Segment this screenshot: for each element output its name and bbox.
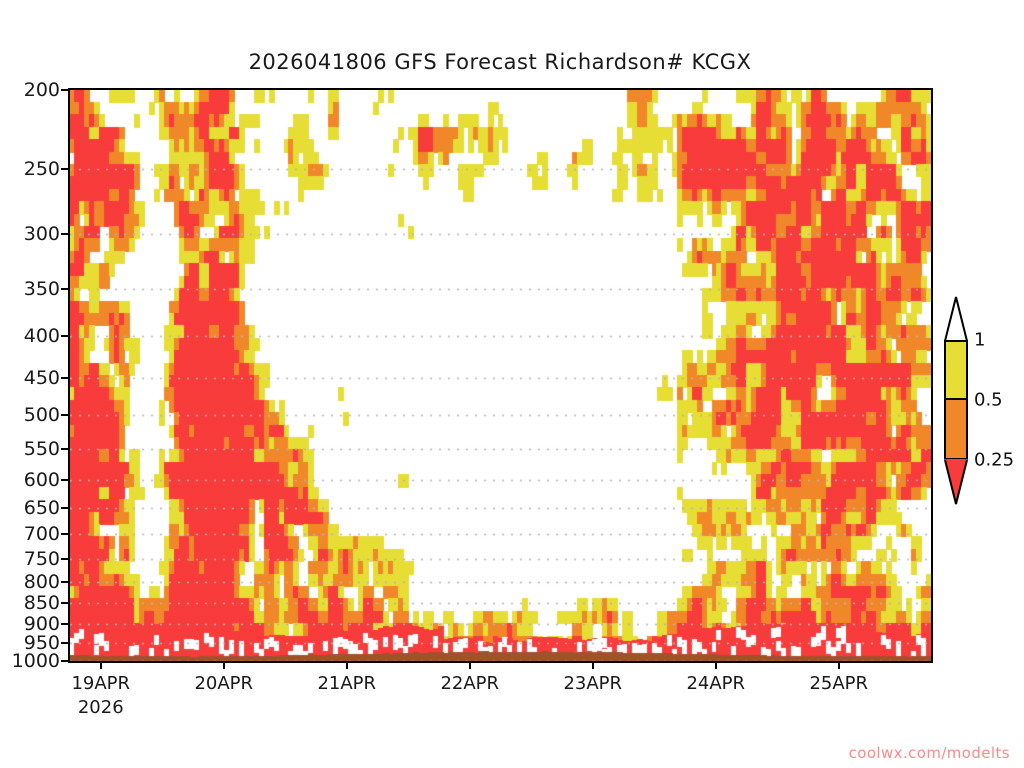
x-axis-year-label: 2026 <box>78 697 124 718</box>
y-tick-label: 750 <box>2 548 60 570</box>
y-tick-label: 250 <box>2 158 60 180</box>
colorbar-tick-label: 0.25 <box>974 450 1014 471</box>
y-tick-label: 550 <box>2 438 60 460</box>
y-tick-label: 800 <box>2 571 60 593</box>
colorbar-segment <box>946 342 966 400</box>
colorbar-bottom-arrow <box>944 459 968 505</box>
y-tick-label: 650 <box>2 497 60 519</box>
colorbar-tick-label: 0.5 <box>974 390 1003 411</box>
colorbar-tick-label: 1 <box>974 330 985 351</box>
x-tick-mark <box>469 661 471 669</box>
y-tick-label: 700 <box>2 523 60 545</box>
colorbar-segment <box>946 400 966 458</box>
footer-credit: coolwx.com/modelts <box>849 744 1010 762</box>
y-axis-labels: 2002503003504004505005506006507007508008… <box>0 0 60 768</box>
x-tick-mark <box>100 661 102 669</box>
y-tick-label: 450 <box>2 367 60 389</box>
y-tick-label: 300 <box>2 223 60 245</box>
x-tick-mark <box>838 661 840 669</box>
plot-area <box>68 88 933 663</box>
x-tick-label: 20APR <box>194 673 253 694</box>
y-tick-label: 1000 <box>2 650 60 672</box>
y-tick-label: 200 <box>2 79 60 101</box>
y-tick-label: 500 <box>2 404 60 426</box>
colorbar-top-arrow <box>944 296 968 342</box>
y-tick-label: 350 <box>2 278 60 300</box>
richardson-number-chart: 2026041806 GFS Forecast Richardson# KCGX… <box>0 0 1024 768</box>
y-tick-label: 600 <box>2 469 60 491</box>
x-tick-label: 24APR <box>686 673 745 694</box>
x-tick-mark <box>346 661 348 669</box>
page-title: 2026041806 GFS Forecast Richardson# KCGX <box>0 50 1000 74</box>
y-tick-label: 850 <box>2 592 60 614</box>
y-tick-label: 400 <box>2 325 60 347</box>
x-tick-mark <box>223 661 225 669</box>
x-tick-label: 19APR <box>71 673 130 694</box>
x-tick-label: 25APR <box>809 673 868 694</box>
colorbar-body <box>944 340 968 460</box>
gridlines-layer <box>70 90 931 661</box>
x-tick-label: 21APR <box>317 673 376 694</box>
x-tick-mark <box>715 661 717 669</box>
x-tick-label: 23APR <box>563 673 622 694</box>
x-tick-label: 22APR <box>440 673 499 694</box>
x-tick-mark <box>592 661 594 669</box>
